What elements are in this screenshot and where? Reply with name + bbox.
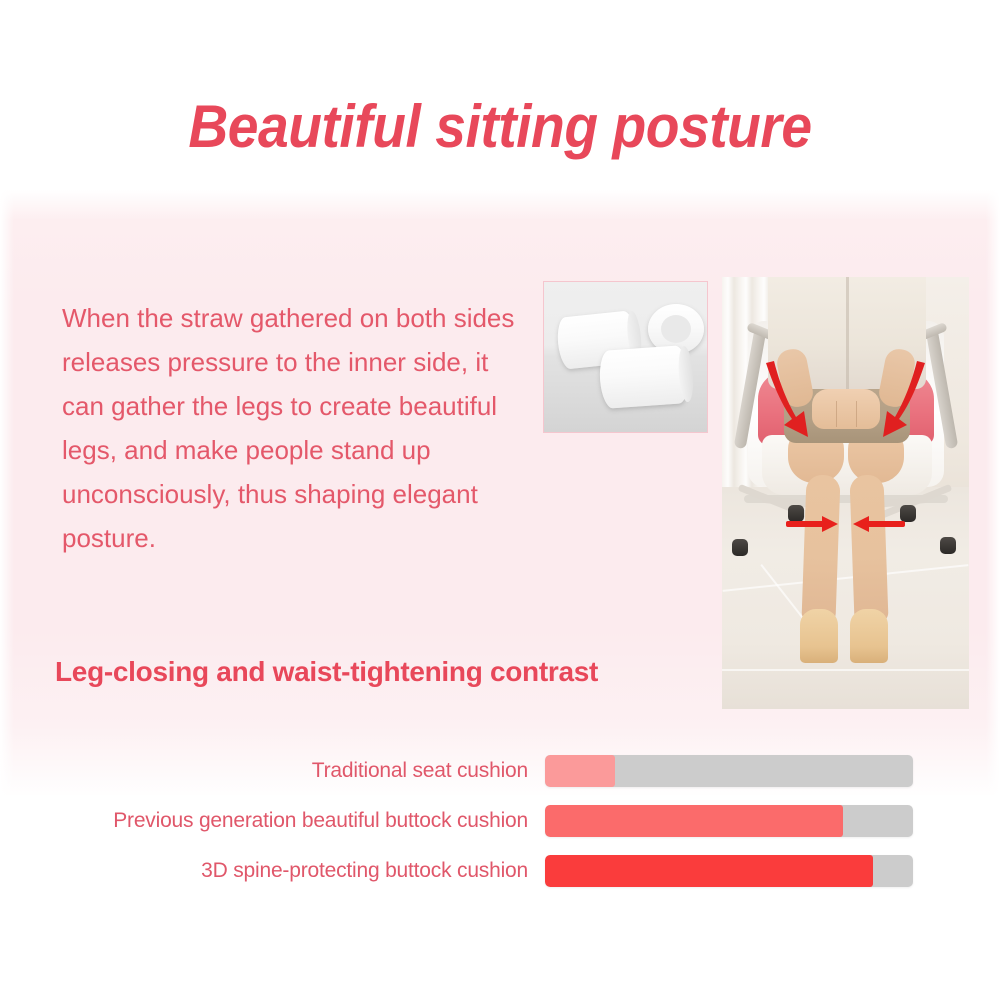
bar-track-previous-generation	[545, 805, 913, 837]
bar-fill-traditional	[545, 755, 615, 787]
knee-arrow-left-icon	[786, 516, 838, 532]
bar-row: Traditional seat cushion	[0, 746, 1000, 796]
bar-fill-previous-generation	[545, 805, 843, 837]
description-paragraph: When the straw gathered on both sides re…	[62, 296, 532, 560]
knee-arrow-right-icon	[853, 516, 905, 532]
cushion-roll-front	[598, 345, 690, 409]
background-fade-right	[986, 190, 1000, 800]
section-heading: Leg-closing and waist-tightening contras…	[55, 656, 598, 688]
bar-track-traditional	[545, 755, 913, 787]
woman-sitting-on-chair-photo	[722, 277, 969, 709]
hip-arrow-right-icon	[883, 361, 925, 437]
bar-fill-3d-spine	[545, 855, 873, 887]
hip-arrow-left-icon	[766, 361, 808, 437]
comparison-bar-chart: Traditional seat cushion Previous genera…	[0, 746, 1000, 896]
bar-row: 3D spine-protecting buttock cushion	[0, 846, 1000, 896]
bar-row: Previous generation beautiful buttock cu…	[0, 796, 1000, 846]
bar-label-traditional: Traditional seat cushion	[312, 759, 528, 783]
pressure-arrows-overlay	[722, 277, 969, 709]
background-fade-left	[0, 190, 14, 800]
page-title: Beautiful sitting posture	[40, 92, 960, 161]
product-cushion-rolls-photo	[543, 281, 708, 433]
bar-label-3d-spine: 3D spine-protecting buttock cushion	[201, 859, 528, 883]
bar-track-3d-spine	[545, 855, 913, 887]
bar-label-previous-generation: Previous generation beautiful buttock cu…	[113, 809, 528, 833]
poster-page: Beautiful sitting posture When the straw…	[0, 0, 1000, 1000]
